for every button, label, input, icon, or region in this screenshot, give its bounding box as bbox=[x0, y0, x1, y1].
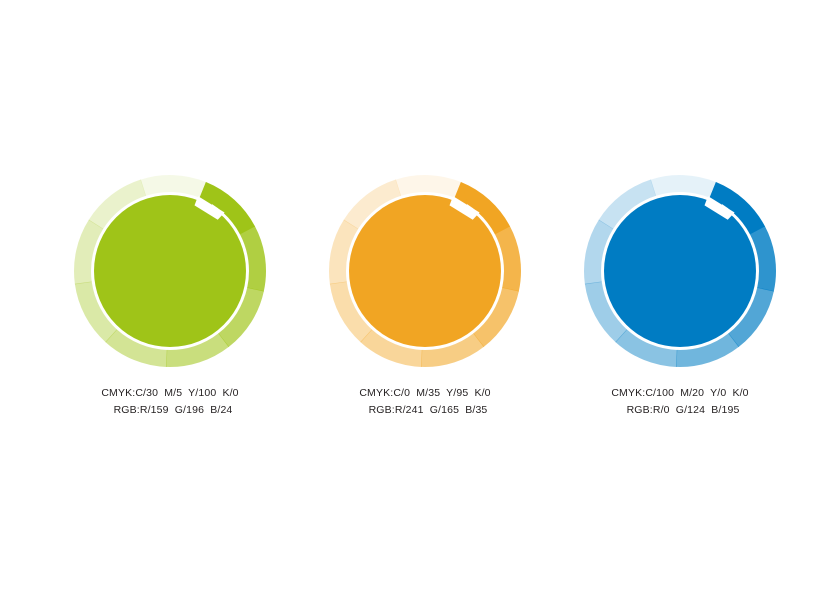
color-palette-canvas: CMYK:C/30 M/5 Y/100 K/0RGB:R/159 G/196 B… bbox=[0, 0, 838, 597]
cmyk-value-blue: CMYK:C/100 M/20 Y/0 K/0 bbox=[541, 385, 819, 402]
rgb-value-orange: RGB:R/241 G/165 B/35 bbox=[286, 402, 564, 419]
rgb-value-blue: RGB:R/0 G/124 B/195 bbox=[541, 402, 819, 419]
rgb-value-green: RGB:R/159 G/196 B/24 bbox=[31, 402, 309, 419]
color-swatch-blue: CMYK:C/100 M/20 Y/0 K/0RGB:R/0 G/124 B/1… bbox=[541, 171, 819, 461]
swatch-figure-blue bbox=[541, 171, 819, 371]
color-wheel-blue bbox=[541, 171, 819, 371]
color-swatch-orange: CMYK:C/0 M/35 Y/95 K/0RGB:R/241 G/165 B/… bbox=[286, 171, 564, 461]
swatch-figure-green bbox=[31, 171, 309, 371]
color-wheel-green bbox=[31, 171, 309, 371]
inner-disc bbox=[604, 195, 756, 347]
swatch-caption-green: CMYK:C/30 M/5 Y/100 K/0RGB:R/159 G/196 B… bbox=[31, 385, 309, 419]
swatch-caption-blue: CMYK:C/100 M/20 Y/0 K/0RGB:R/0 G/124 B/1… bbox=[541, 385, 819, 419]
cmyk-value-green: CMYK:C/30 M/5 Y/100 K/0 bbox=[31, 385, 309, 402]
ring-segment bbox=[650, 175, 716, 198]
ring-segment bbox=[140, 175, 206, 198]
cmyk-value-orange: CMYK:C/0 M/35 Y/95 K/0 bbox=[286, 385, 564, 402]
swatch-caption-orange: CMYK:C/0 M/35 Y/95 K/0RGB:R/241 G/165 B/… bbox=[286, 385, 564, 419]
inner-disc bbox=[94, 195, 246, 347]
color-wheel-orange bbox=[286, 171, 564, 371]
color-swatch-green: CMYK:C/30 M/5 Y/100 K/0RGB:R/159 G/196 B… bbox=[31, 171, 309, 461]
inner-disc bbox=[349, 195, 501, 347]
swatch-figure-orange bbox=[286, 171, 564, 371]
ring-segment bbox=[395, 175, 461, 198]
